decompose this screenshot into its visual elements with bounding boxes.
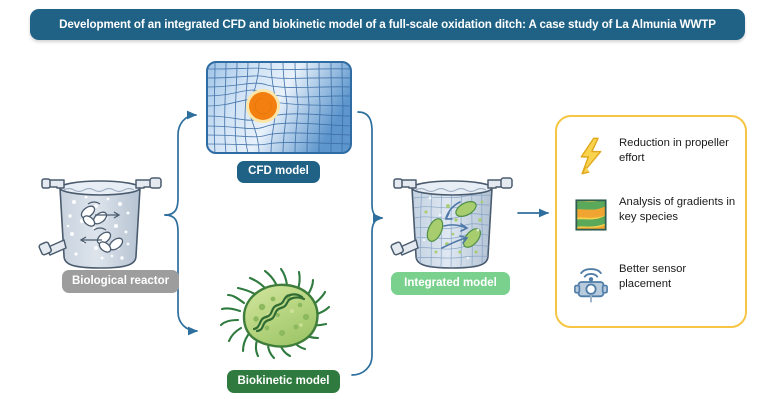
result-item-gradients: Analysis of gradients in key species	[571, 193, 739, 237]
result-item-sensor-placement: Better sensor placement	[571, 260, 739, 304]
badge-integrated-model-label: Integrated model	[404, 278, 497, 290]
badge-cfd-model: CFD model	[237, 161, 320, 183]
lightning-bolt-icon	[571, 134, 611, 178]
title-bar: Development of an integrated CFD and bio…	[30, 9, 745, 40]
sensor-probe-icon	[571, 260, 611, 304]
biological-reactor-figure	[38, 168, 173, 273]
reactor-tank-mesh-bacteria-icon	[390, 168, 520, 273]
cfd-mesh-grid-icon	[205, 60, 353, 155]
reactor-tank-propellers-icon	[38, 168, 173, 273]
integrated-model-figure	[390, 168, 520, 273]
badge-cfd-model-label: CFD model	[248, 166, 309, 178]
result-item-1-label: Analysis of gradients in key species	[611, 193, 739, 225]
gradient-map-icon	[571, 193, 611, 237]
page-title: Development of an integrated CFD and bio…	[59, 19, 716, 31]
badge-biological-reactor: Biological reactor	[62, 270, 179, 293]
results-panel: Reduction in propeller effort	[555, 115, 747, 328]
bacterium-icon	[200, 255, 355, 367]
arrow-cfd-to-integrated	[358, 112, 382, 218]
result-item-0-label: Reduction in propeller effort	[611, 134, 739, 166]
badge-biokinetic-model-label: Biokinetic model	[237, 376, 329, 388]
result-item-propeller-effort: Reduction in propeller effort	[571, 134, 739, 178]
badge-integrated-model: Integrated model	[391, 272, 510, 295]
result-item-2-label: Better sensor placement	[611, 260, 739, 292]
arrow-biokinetic-to-integrated	[352, 218, 382, 375]
cfd-model-figure	[205, 60, 353, 155]
badge-biological-reactor-label: Biological reactor	[72, 276, 169, 288]
biokinetic-model-figure	[200, 255, 355, 367]
badge-biokinetic-model: Biokinetic model	[227, 370, 340, 393]
graphical-abstract: Development of an integrated CFD and bio…	[0, 0, 770, 400]
